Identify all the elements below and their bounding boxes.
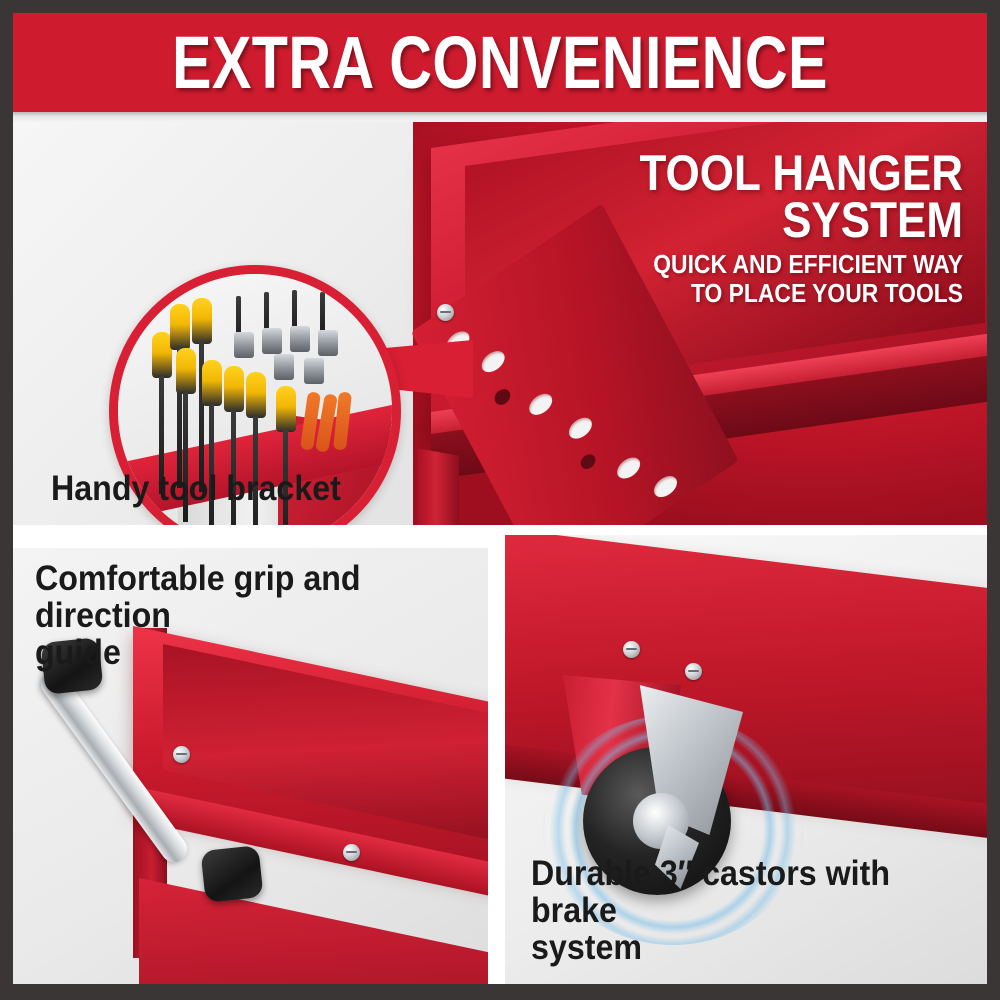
screw-icon (685, 663, 702, 680)
caption-handy-tool-bracket: Handy tool bracket (51, 470, 341, 507)
screwdriver-handle (176, 348, 196, 394)
panel-handle-grip: Comfortable grip and direction guide (13, 548, 488, 984)
screw-icon (437, 304, 454, 321)
banner-title: EXTRA CONVENIENCE (172, 26, 828, 100)
header-banner: EXTRA CONVENIENCE (13, 13, 987, 112)
tool-hanger-headline: TOOL HANGER SYSTEM QUICK AND EFFICIENT W… (543, 150, 963, 308)
hanger-hole (478, 347, 508, 377)
screwdriver-handle (246, 372, 266, 418)
caption-line-1: Comfortable grip and direction (35, 560, 458, 634)
socket-head (262, 328, 282, 354)
socket-head (318, 330, 338, 356)
caption-line-2: guide (35, 634, 458, 671)
screw-icon (173, 746, 190, 763)
panel-tool-hanger: TOOL HANGER SYSTEM QUICK AND EFFICIENT W… (13, 122, 987, 525)
hanger-hole-dark (492, 386, 513, 408)
castor-artwork: Durable 3″ castors with brake system (505, 535, 987, 984)
product-feature-image: EXTRA CONVENIENCE (0, 0, 1000, 1000)
screwdriver-handle (170, 304, 190, 350)
screwdriver-handle (276, 386, 296, 432)
caption-line-1: Durable 3″ castors with brake (531, 855, 936, 929)
socket-head (290, 326, 310, 352)
cart-post-left (417, 448, 459, 525)
caption-line-2: system (531, 929, 936, 966)
headline-line-2: SYSTEM (593, 197, 963, 244)
handle-artwork: Comfortable grip and direction guide (13, 548, 488, 984)
handle-grip-cap-bottom (200, 845, 263, 903)
hanger-hole-dark (578, 451, 597, 471)
hanger-hole (566, 413, 596, 443)
subtitle-line-1: QUICK AND EFFICIENT WAY (593, 251, 963, 278)
subtitle-line-2: TO PLACE YOUR TOOLS (593, 280, 963, 307)
hanger-hole (614, 453, 644, 483)
socket-head (234, 332, 254, 358)
tool-hanger-artwork: TOOL HANGER SYSTEM QUICK AND EFFICIENT W… (13, 122, 987, 525)
frame-border-bottom (0, 984, 1000, 1000)
hanger-hole (651, 472, 681, 502)
screw-icon (623, 641, 640, 658)
caption-durable-castors: Durable 3″ castors with brake system (531, 855, 936, 966)
frame-border-left (0, 0, 13, 1000)
frame-border-right (987, 0, 1000, 1000)
panel-castor: Durable 3″ castors with brake system (505, 535, 987, 984)
frame-border-top (0, 0, 1000, 13)
screwdriver-handle (192, 298, 212, 344)
headline-line-1: TOOL HANGER (593, 150, 963, 197)
screw-icon (343, 844, 360, 861)
screwdriver-handle (224, 366, 244, 412)
screwdriver-handle (152, 332, 172, 378)
caption-comfortable-grip: Comfortable grip and direction guide (35, 560, 458, 671)
banner-fade-strip (13, 112, 987, 122)
hanger-hole (526, 390, 556, 420)
panel-grid: TOOL HANGER SYSTEM QUICK AND EFFICIENT W… (13, 112, 987, 984)
socket-head (304, 358, 324, 384)
screwdriver-handle (202, 360, 222, 406)
socket-head (274, 354, 294, 380)
